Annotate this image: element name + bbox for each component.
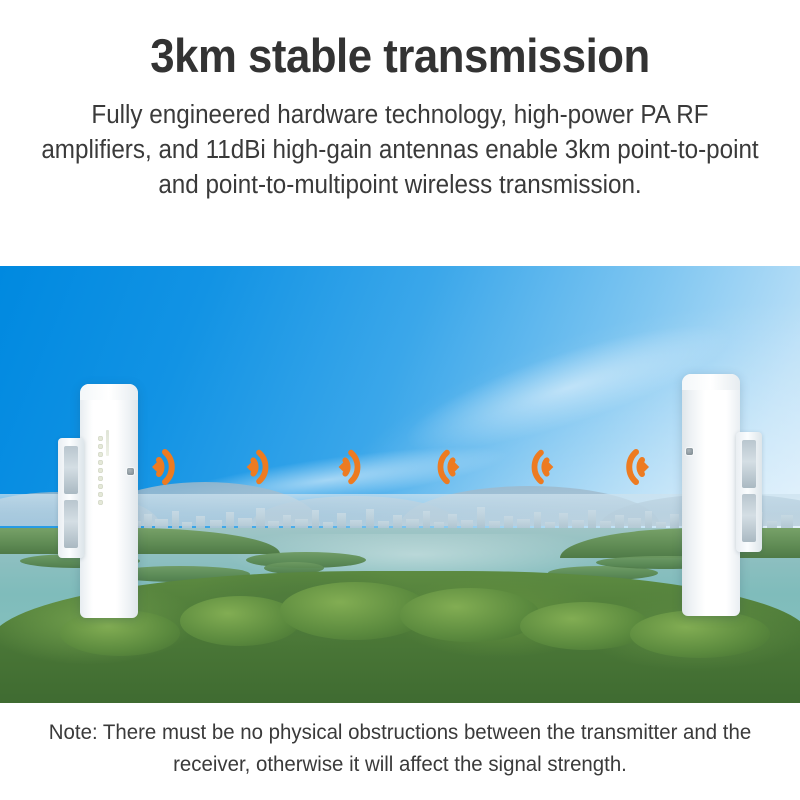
device-top-cap	[80, 384, 138, 400]
page-title: 3km stable transmission	[28, 28, 772, 84]
led-indicator	[98, 484, 103, 489]
disclaimer-note: Note: There must be no physical obstruct…	[34, 716, 766, 780]
led-indicator	[98, 476, 103, 481]
receiver-cpe-right[interactable]	[682, 374, 740, 616]
signal-icon-3	[330, 445, 374, 489]
product-feature-banner: 3km stable transmission Fully engineered…	[0, 0, 800, 800]
signal-icon-2	[238, 445, 282, 489]
tree-canopy-6	[630, 610, 770, 658]
led-indicator	[98, 452, 103, 457]
status-strip	[106, 430, 109, 456]
bracket-slot-upper	[742, 440, 756, 488]
scene-photo	[0, 266, 800, 703]
led-indicator	[98, 460, 103, 465]
led-indicator	[98, 468, 103, 473]
feature-description: Fully engineered hardware technology, hi…	[34, 98, 766, 203]
signal-icon-6	[612, 444, 658, 490]
device-top-cap	[682, 374, 740, 390]
signal-icon-5	[518, 445, 562, 489]
bracket-slot-upper	[64, 446, 78, 494]
tree-canopy-3	[400, 588, 540, 642]
bracket-slot-lower	[742, 494, 756, 542]
tree-canopy-4	[520, 602, 650, 650]
led-indicator	[98, 492, 103, 497]
signal-icon-4	[424, 445, 468, 489]
device-port-left	[127, 468, 134, 475]
led-indicator	[98, 500, 103, 505]
device-body	[682, 374, 740, 616]
signal-icon-1	[143, 444, 189, 490]
led-indicator-panel	[98, 436, 103, 505]
led-indicator	[98, 444, 103, 449]
device-body	[80, 384, 138, 618]
bracket-slot-lower	[64, 500, 78, 548]
transmitter-cpe-left[interactable]	[80, 384, 138, 618]
device-port-right	[686, 448, 693, 455]
led-indicator	[98, 436, 103, 441]
